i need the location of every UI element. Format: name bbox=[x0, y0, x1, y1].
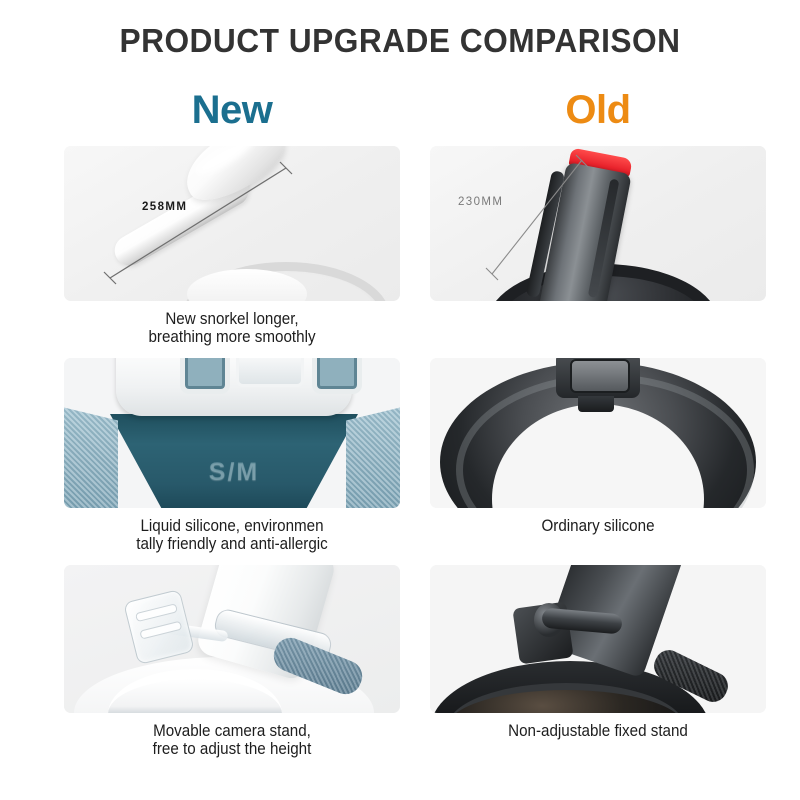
cell-old-silicone: Ordinary silicone bbox=[430, 358, 766, 535]
page-title: PRODUCT UPGRADE COMPARISON bbox=[16, 22, 784, 60]
comparison-row-camera-stand: Movable camera stand, free to adjust the… bbox=[0, 565, 800, 770]
strap-right-shape bbox=[346, 406, 400, 508]
photo-old-snorkel: 230MM bbox=[430, 146, 766, 301]
cell-new-snorkel: 258MM New snorkel longer, breathing more… bbox=[64, 146, 400, 347]
photo-new-snorkel: 258MM bbox=[64, 146, 400, 301]
vent-left-shape bbox=[180, 358, 230, 394]
infographic-page: PRODUCT UPGRADE COMPARISON New Old bbox=[0, 0, 800, 800]
column-heading-old: Old bbox=[430, 88, 766, 133]
cell-old-camera-stand: Non-adjustable fixed stand bbox=[430, 565, 766, 740]
column-heading-new: New bbox=[64, 88, 400, 133]
vent-right-shape bbox=[312, 358, 362, 394]
mask-frame-shape bbox=[116, 358, 352, 416]
valve-window-shape bbox=[236, 358, 304, 387]
dimension-arrow-icon bbox=[430, 146, 766, 301]
strap-left-shape bbox=[64, 406, 118, 508]
valve-stem-shape bbox=[578, 396, 614, 412]
silicone-skirt-shape: S/M bbox=[110, 414, 358, 508]
photo-old-camera-stand bbox=[430, 565, 766, 713]
silicone-art: S/M bbox=[64, 358, 400, 508]
comparison-grid: 258MM New snorkel longer, breathing more… bbox=[0, 146, 800, 770]
cell-old-snorkel: 230MM bbox=[430, 146, 766, 301]
camera-stand-art bbox=[64, 565, 400, 713]
caption-new-silicone: Liquid silicone, environmen tally friend… bbox=[77, 517, 386, 554]
dimension-arrow-icon bbox=[64, 146, 400, 301]
camera-mount-shape bbox=[123, 589, 195, 665]
caption-old-silicone: Ordinary silicone bbox=[443, 517, 752, 535]
photo-old-silicone bbox=[430, 358, 766, 508]
dimension-label-old: 230MM bbox=[458, 196, 503, 208]
cell-new-camera-stand: Movable camera stand, free to adjust the… bbox=[64, 565, 400, 759]
camera-stand-art bbox=[430, 565, 766, 713]
photo-new-silicone: S/M bbox=[64, 358, 400, 508]
dimension-label-new: 258MM bbox=[142, 201, 187, 213]
comparison-row-snorkel-length: 258MM New snorkel longer, breathing more… bbox=[0, 146, 800, 358]
caption-new-camera-stand: Movable camera stand, free to adjust the… bbox=[77, 722, 386, 759]
photo-new-camera-stand bbox=[64, 565, 400, 713]
silicone-art bbox=[430, 358, 766, 508]
cell-new-silicone: S/M Liquid silicone, environmen tally fr… bbox=[64, 358, 400, 554]
comparison-row-silicone: S/M Liquid silicone, environmen tally fr… bbox=[0, 358, 800, 565]
size-emboss-label: S/M bbox=[110, 458, 358, 487]
caption-new-snorkel: New snorkel longer, breathing more smoot… bbox=[77, 310, 386, 347]
valve-window-shape bbox=[570, 359, 630, 393]
caption-old-camera-stand: Non-adjustable fixed stand bbox=[443, 722, 752, 740]
